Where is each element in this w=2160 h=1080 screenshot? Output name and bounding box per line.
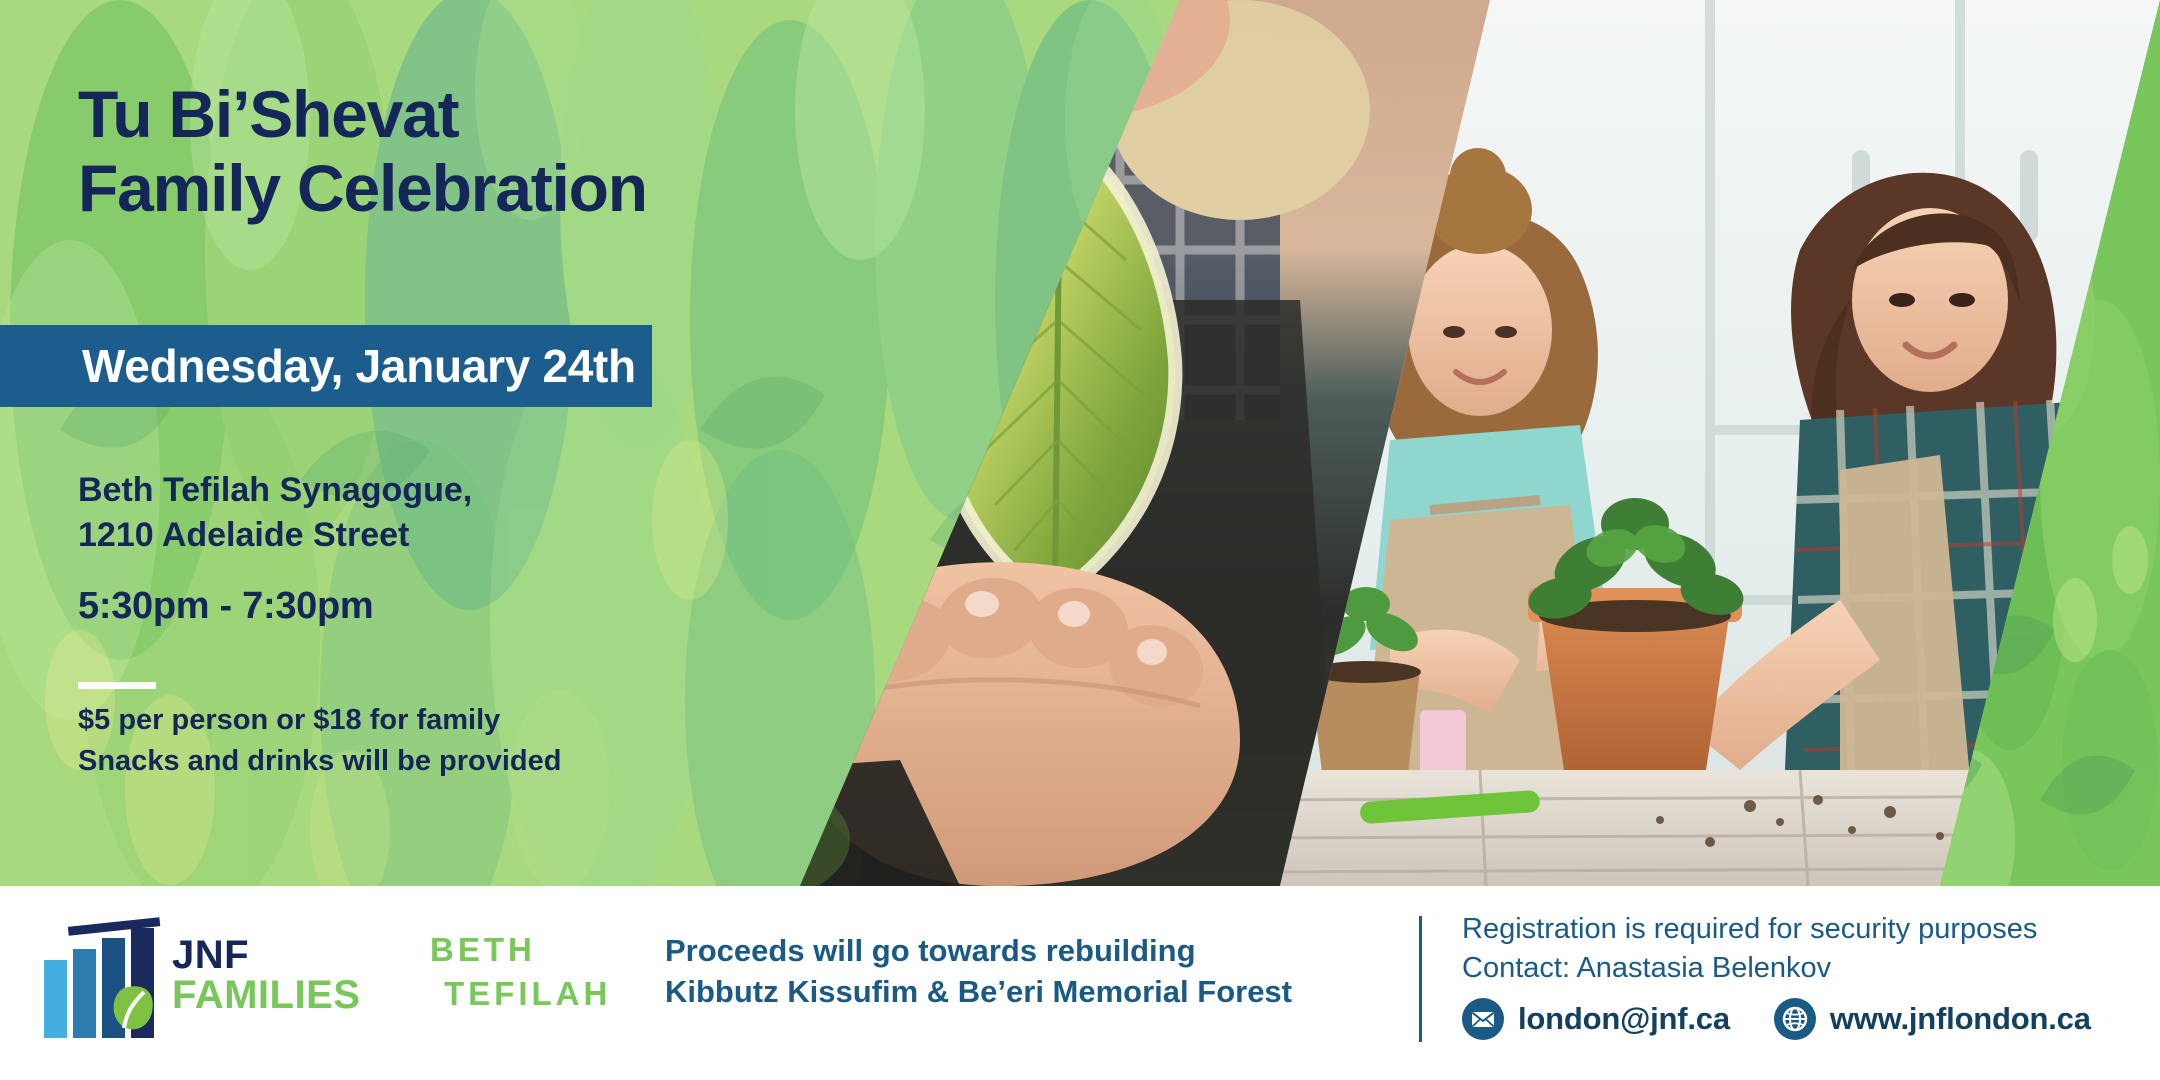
title-line-1: Tu Bi’Shevat xyxy=(78,78,798,152)
page-title: Tu Bi’Shevat Family Celebration xyxy=(78,78,798,226)
registration-text: Registration is required for security pu… xyxy=(1462,910,2142,987)
proceeds-line-1: Proceeds will go towards rebuilding xyxy=(665,930,1385,971)
proceeds-line-2: Kibbutz Kissufim & Be’eri Memorial Fores… xyxy=(665,971,1385,1012)
envelope-glyph xyxy=(1470,1006,1496,1032)
title-line-2: Family Celebration xyxy=(78,152,798,226)
proceeds-statement: Proceeds will go towards rebuilding Kibb… xyxy=(665,930,1385,1012)
event-poster: Tu Bi’Shevat Family Celebration Wednesda… xyxy=(0,0,2160,1080)
venue-name: Beth Tefilah Synagogue, xyxy=(78,468,778,513)
globe-icon xyxy=(1774,998,1816,1040)
globe-glyph xyxy=(1781,1005,1809,1033)
divider-rule xyxy=(78,682,156,689)
website-text[interactable]: www.jnflondon.ca xyxy=(1830,1001,2091,1037)
registration-line-2: Contact: Anastasia Belenkov xyxy=(1462,949,2142,988)
beth-text: BETH xyxy=(430,928,660,972)
jnf-families-logo: JNF FAMILIES xyxy=(40,908,390,1048)
event-time: 5:30pm - 7:30pm xyxy=(78,585,373,628)
event-date-banner: Wednesday, January 24th xyxy=(0,325,652,407)
jnf-wordmark: JNF FAMILIES xyxy=(172,936,360,1015)
snacks-line: Snacks and drinks will be provided xyxy=(78,741,778,782)
pricing-info: $5 per person or $18 for family Snacks a… xyxy=(78,700,778,782)
venue-street: 1210 Adelaide Street xyxy=(78,513,778,558)
price-line: $5 per person or $18 for family xyxy=(78,700,778,741)
event-date-text: Wednesday, January 24th xyxy=(82,339,636,393)
registration-line-1: Registration is required for security pu… xyxy=(1462,910,2142,949)
email-text[interactable]: london@jnf.ca xyxy=(1518,1001,1730,1037)
beth-tefilah-logo: BETH TEFILAH xyxy=(430,928,660,1015)
envelope-icon xyxy=(1462,998,1504,1040)
jnf-text: JNF xyxy=(172,936,360,975)
families-text: FAMILIES xyxy=(172,975,360,1015)
hero-section: Tu Bi’Shevat Family Celebration Wednesda… xyxy=(0,0,2160,886)
venue-address: Beth Tefilah Synagogue, 1210 Adelaide St… xyxy=(78,468,778,558)
footer-vertical-divider xyxy=(1419,916,1422,1042)
footer-section: JNF FAMILIES BETH TEFILAH Proceeds will … xyxy=(0,886,2160,1080)
contact-row: london@jnf.ca www.jnflondon.ca xyxy=(1462,998,2091,1040)
jnf-buildings-icon xyxy=(40,916,170,1046)
tefilah-text: TEFILAH xyxy=(430,972,660,1016)
registration-info: Registration is required for security pu… xyxy=(1462,910,2142,987)
